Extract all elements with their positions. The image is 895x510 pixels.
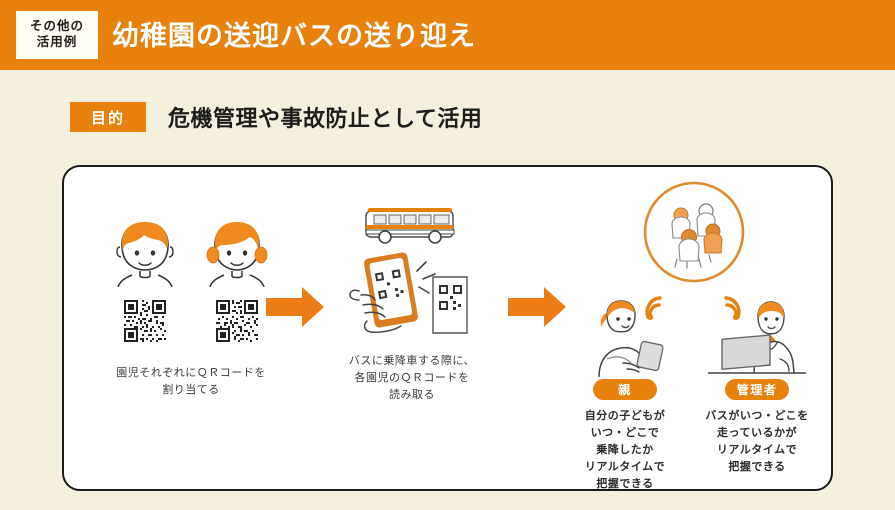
- administrator-with-monitor-icon: [702, 299, 812, 379]
- diagram-step-2: バスに乗降車する際に、 各園児のＱＲコードを 読み取る: [312, 201, 512, 404]
- purpose-badge: 目的: [70, 102, 146, 132]
- parent-with-smartphone-icon: [577, 299, 673, 379]
- purpose-text: 危機管理や事故防止として活用: [168, 101, 482, 133]
- boy-face-icon: [106, 215, 184, 287]
- diagram-panel: 園児それぞれにＱＲコードを 割り当てる: [62, 165, 833, 491]
- page-header: その他の 活用例 幼稚園の送迎バスの送り迎え: [0, 0, 895, 70]
- children-group-circle-icon: [639, 179, 749, 285]
- children-illustration: [86, 215, 296, 347]
- diagram-step-1: 園児それぞれにＱＲコードを 割り当てる: [86, 215, 296, 399]
- header-badge-line1: その他の: [30, 19, 84, 35]
- header-category-badge: その他の 活用例: [16, 11, 98, 59]
- header-badge-line2: 活用例: [37, 35, 78, 51]
- qr-code-icon: [216, 300, 258, 342]
- purpose-row: 目的 危機管理や事故防止として活用: [70, 101, 482, 133]
- pill-label-administrator: 管理者: [725, 379, 789, 400]
- page-title: 幼稚園の送迎バスの送り迎え: [112, 14, 476, 53]
- arrow-step2-to-step3: [508, 287, 566, 327]
- diagram-step-3-result: 親 自分の子どもが いつ・どこで 乗降したか リアルタイムで 把握できる: [564, 179, 824, 465]
- qr-code-icon: [124, 300, 166, 342]
- girl-with-qr: [198, 215, 276, 347]
- phone-scanning-qr-icon: [347, 249, 477, 345]
- bus-icon: [364, 201, 460, 245]
- step-2-caption: バスに乗降車する際に、 各園児のＱＲコードを 読み取る: [312, 353, 512, 404]
- result-column-administrator: 管理者 バスがいつ・どこを 走っているかが リアルタイムで 把握できる: [692, 299, 822, 476]
- step-1-caption: 園児それぞれにＱＲコードを 割り当てる: [86, 365, 296, 399]
- result-caption-parent: 自分の子どもが いつ・どこで 乗降したか リアルタイムで 把握できる: [560, 408, 690, 493]
- girl-face-icon: [198, 215, 276, 287]
- pill-label-parent: 親: [593, 379, 657, 400]
- result-column-parent: 親 自分の子どもが いつ・どこで 乗降したか リアルタイムで 把握できる: [560, 299, 690, 493]
- boy-with-qr: [106, 215, 184, 347]
- result-caption-administrator: バスがいつ・どこを 走っているかが リアルタイムで 把握できる: [692, 408, 822, 476]
